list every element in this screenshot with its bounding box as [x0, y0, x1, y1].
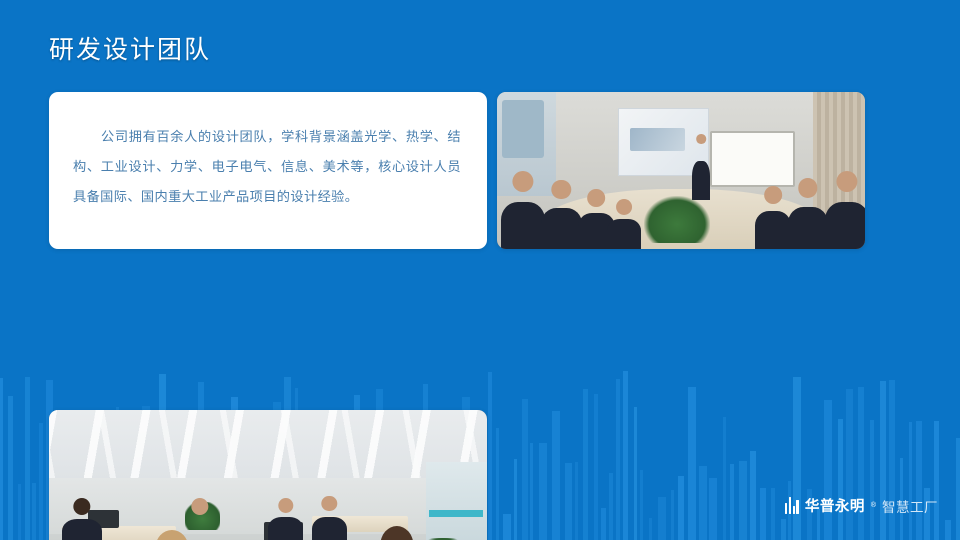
pattern-bar	[514, 459, 517, 540]
pattern-bar	[496, 428, 499, 540]
logo-brand: 华普永明	[805, 495, 865, 516]
pattern-bar	[916, 421, 922, 540]
page-title: 研发设计团队	[49, 30, 211, 66]
pattern-bar	[552, 411, 560, 540]
pattern-bar	[609, 473, 613, 540]
pattern-bar	[594, 394, 598, 540]
pattern-bar	[671, 490, 674, 540]
pattern-bar	[565, 463, 572, 540]
company-logo: 华普永明 ® 智慧工厂	[785, 495, 938, 516]
slide-root: 研发设计团队 公司拥有百余人的设计团队，学科背景涵盖光学、热学、结构、工业设计、…	[0, 0, 960, 540]
pattern-bar	[945, 520, 951, 540]
pattern-bar	[730, 464, 734, 540]
pattern-bar	[522, 399, 528, 540]
pattern-bar	[503, 514, 511, 540]
pattern-bar	[909, 422, 912, 540]
pattern-bar	[760, 488, 766, 540]
pattern-bar	[488, 372, 492, 540]
pattern-bar	[870, 420, 874, 540]
pattern-bar	[530, 443, 533, 540]
pattern-bar	[771, 488, 775, 540]
pattern-bar	[709, 478, 717, 540]
pattern-bar	[934, 421, 939, 540]
pattern-bar	[640, 470, 643, 540]
photo-open-office	[49, 410, 487, 540]
pattern-bar	[32, 483, 36, 540]
photo-meeting-room	[497, 92, 865, 249]
pattern-bar	[750, 451, 756, 540]
pattern-bar	[678, 476, 684, 540]
pattern-bar	[688, 387, 696, 540]
pattern-bar	[880, 381, 886, 540]
intro-text-card: 公司拥有百余人的设计团队，学科背景涵盖光学、热学、结构、工业设计、力学、电子电气…	[49, 92, 487, 249]
equalizer-bars-logo-icon	[785, 497, 799, 514]
pattern-bar	[634, 407, 637, 540]
pattern-bar	[739, 461, 747, 540]
pattern-bar	[649, 518, 652, 540]
pattern-bar	[699, 466, 707, 540]
pattern-bar	[0, 378, 3, 540]
pattern-bar	[616, 379, 620, 540]
pattern-bar	[956, 438, 960, 540]
meeting-scene	[497, 92, 865, 249]
pattern-bar	[18, 484, 21, 540]
office-scene	[49, 410, 487, 540]
pattern-bar	[723, 417, 726, 540]
pattern-bar	[8, 396, 13, 540]
pattern-bar	[824, 400, 832, 540]
pattern-bar	[858, 387, 864, 540]
pattern-bar	[583, 389, 588, 540]
pattern-bar	[539, 443, 547, 540]
pattern-bar	[25, 377, 30, 540]
pattern-bar	[846, 389, 853, 540]
logo-sub: 智慧工厂	[882, 496, 938, 516]
pattern-bar	[838, 419, 843, 540]
pattern-bar	[781, 519, 786, 540]
pattern-bar	[623, 371, 628, 540]
pattern-bar	[575, 462, 578, 540]
logo-registered: ®	[871, 502, 876, 509]
intro-paragraph: 公司拥有百余人的设计团队，学科背景涵盖光学、热学、结构、工业设计、力学、电子电气…	[73, 122, 461, 212]
pattern-bar	[601, 508, 606, 540]
pattern-bar	[39, 423, 43, 540]
pattern-bar	[889, 380, 895, 540]
pattern-bar	[658, 497, 666, 540]
